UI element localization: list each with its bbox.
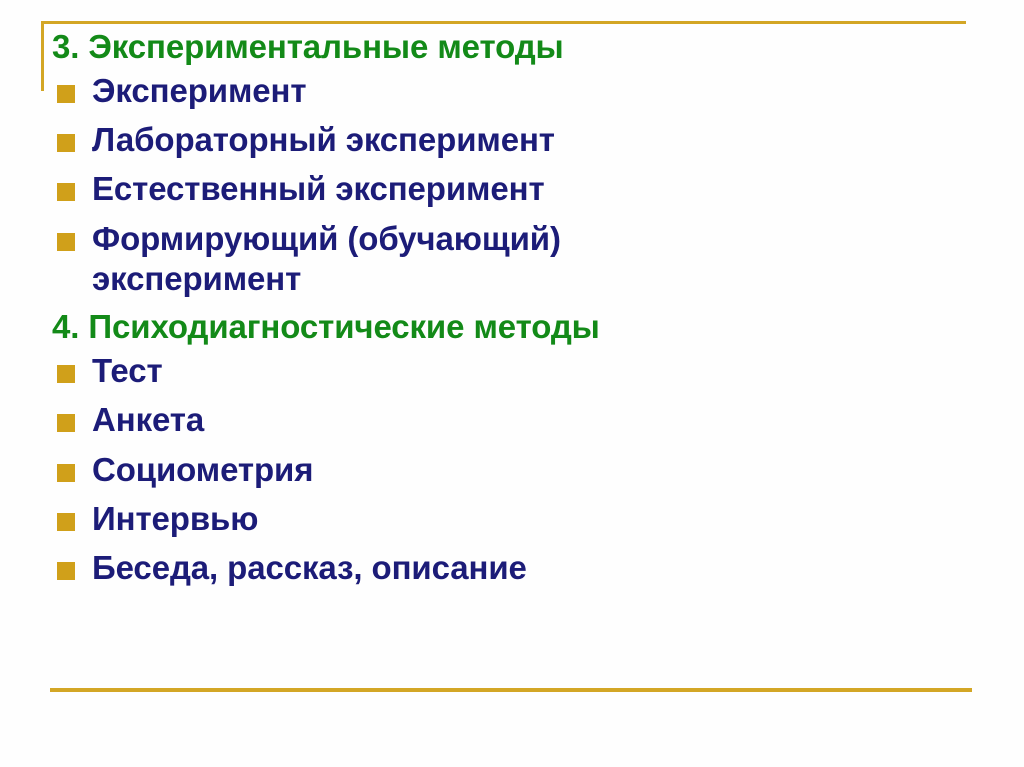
list-item-label: Лабораторный эксперимент: [92, 120, 555, 160]
square-bullet-icon: [57, 233, 75, 251]
list-item: Анкета: [0, 400, 1024, 440]
list-item-label: Естественный эксперимент: [92, 169, 545, 209]
list-item: Эксперимент: [0, 71, 1024, 111]
square-bullet-icon: [57, 183, 75, 201]
square-bullet-icon: [57, 414, 75, 432]
square-bullet-icon: [57, 85, 75, 103]
list-item-label: Беседа, рассказ, описание: [92, 548, 527, 588]
section-heading-4: 4. Психодиагностические методы: [0, 308, 1024, 347]
section-psychodiagnostic-methods: 4. Психодиагностические методы Тест Анке…: [0, 308, 1024, 588]
list-item-label: Анкета: [92, 400, 204, 440]
list-item-label: Эксперимент: [92, 71, 306, 111]
list-item: Лабораторный эксперимент: [0, 120, 1024, 160]
square-bullet-icon: [57, 464, 75, 482]
list-item-label: Тест: [92, 351, 163, 391]
bottom-rule-decoration: [50, 688, 972, 692]
section-heading-3: 3. Экспериментальные методы: [0, 28, 1024, 67]
list-item-label: Интервью: [92, 499, 258, 539]
list-item: Социометрия: [0, 450, 1024, 490]
list-item: Тест: [0, 351, 1024, 391]
square-bullet-icon: [57, 562, 75, 580]
list-item: Интервью: [0, 499, 1024, 539]
list-item: Беседа, рассказ, описание: [0, 548, 1024, 588]
section-experimental-methods: 3. Экспериментальные методы Эксперимент …: [0, 28, 1024, 299]
square-bullet-icon: [57, 134, 75, 152]
square-bullet-icon: [57, 365, 75, 383]
top-rule-decoration: [41, 21, 966, 24]
list-item-label: Формирующий (обучающий) эксперимент: [92, 219, 712, 300]
list-item: Естественный эксперимент: [0, 169, 1024, 209]
list-item-label: Социометрия: [92, 450, 313, 490]
slide-content: 3. Экспериментальные методы Эксперимент …: [0, 28, 1024, 588]
slide: 3. Экспериментальные методы Эксперимент …: [0, 0, 1024, 767]
list-item: Формирующий (обучающий) эксперимент: [0, 219, 1024, 300]
square-bullet-icon: [57, 513, 75, 531]
